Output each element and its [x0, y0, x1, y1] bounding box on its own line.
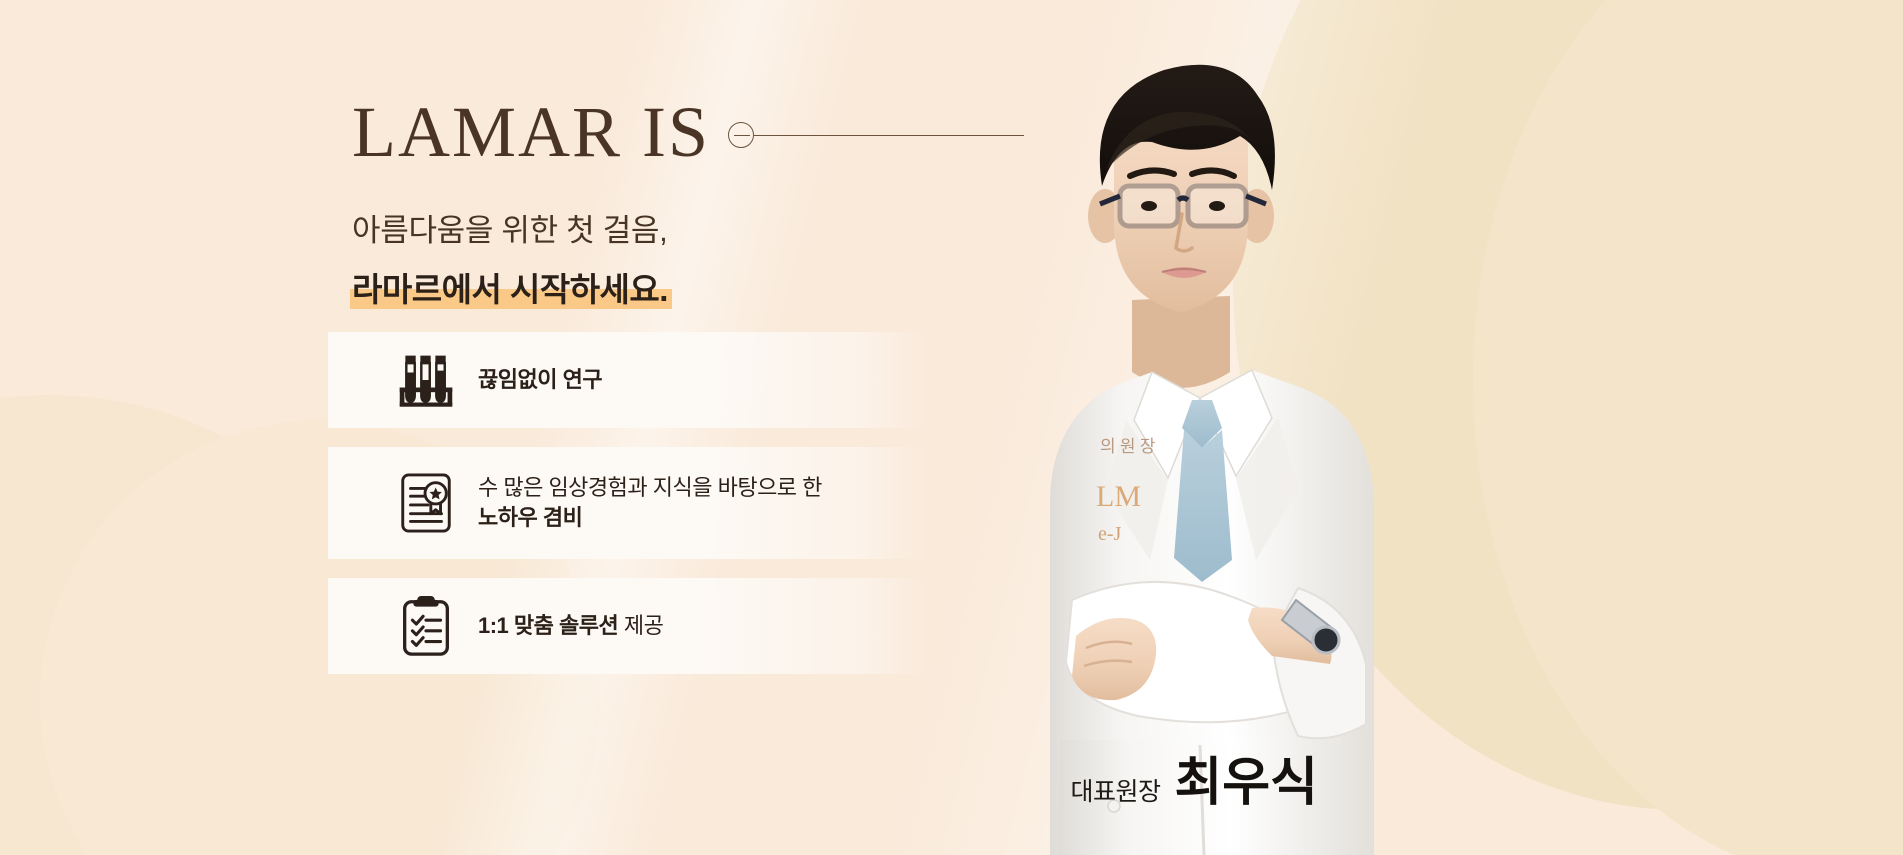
- doctor-role: 대표원장: [1070, 772, 1160, 808]
- subtitle-line-1: 아름다움을 위한 첫 걸음,: [352, 208, 668, 255]
- feature-list: 끊임없이 연구 수 많은 임상경험과 지식을 바탕으로 한: [328, 332, 928, 693]
- hero-banner: 의 원 장 LM e-J LAMAR IS: [0, 0, 1903, 855]
- feature-label-strong: 끊임없이 연구: [478, 367, 602, 392]
- circle-dash-icon: [728, 122, 754, 148]
- doctor-name: 최우식: [1174, 740, 1318, 815]
- svg-text:e-J: e-J: [1098, 523, 1122, 545]
- feature-label-normal: 제공: [618, 613, 663, 638]
- feature-label-strong: 노하우 겸비: [478, 505, 582, 530]
- horizontal-rule-icon: [754, 135, 1024, 136]
- headline-decoration: [728, 122, 1024, 148]
- background-blob-right-small: [1473, 0, 1903, 855]
- test-tube-rack-icon: [396, 349, 456, 411]
- feature-row-research[interactable]: 끊임없이 연구: [328, 332, 928, 428]
- feature-row-solution[interactable]: 1:1 맞춤 솔루션 제공: [328, 578, 928, 674]
- headline-row: LAMAR IS: [352, 96, 1024, 168]
- svg-text:의 원 장: 의 원 장: [1100, 437, 1156, 456]
- subtitle-line-2-wrapper: 라마르에서 시작하세요.: [352, 263, 668, 311]
- feature-label-strong: 1:1 맞춤 솔루션: [478, 613, 618, 638]
- feature-text-experience: 수 많은 임상경험과 지식을 바탕으로 한 노하우 겸비: [478, 473, 822, 532]
- feature-row-experience[interactable]: 수 많은 임상경험과 지식을 바탕으로 한 노하우 겸비: [328, 447, 928, 559]
- subtitle-line-2: 라마르에서 시작하세요.: [352, 271, 668, 308]
- background-blob-right-large: [1233, 0, 1903, 810]
- feature-text-solution: 1:1 맞춤 솔루션 제공: [478, 611, 663, 641]
- subtitle-block: 아름다움을 위한 첫 걸음, 라마르에서 시작하세요.: [352, 208, 668, 311]
- doctor-nameplate: 대표원장 최우식: [1070, 740, 1318, 815]
- clipboard-checklist-icon: [396, 594, 456, 658]
- page-title: LAMAR IS: [352, 96, 710, 168]
- svg-text:LM: LM: [1096, 480, 1141, 513]
- feature-text-research: 끊임없이 연구: [478, 365, 602, 395]
- certificate-award-icon: [396, 472, 456, 534]
- feature-label-normal: 수 많은 임상경험과 지식을 바탕으로 한: [478, 475, 822, 500]
